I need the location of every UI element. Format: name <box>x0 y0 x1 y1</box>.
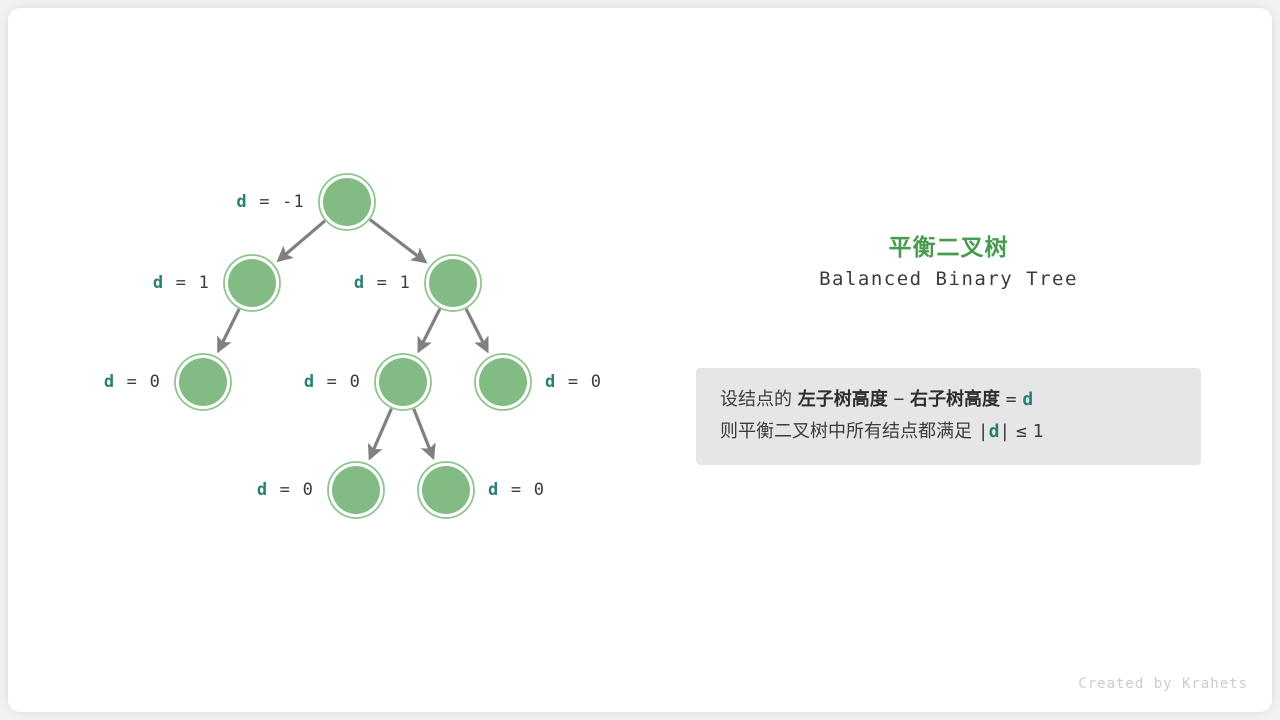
node-label-value: 0 <box>534 480 545 500</box>
tree-node[interactable] <box>425 255 481 311</box>
callout-symbol-d: d <box>1022 389 1033 410</box>
tree-nodes <box>175 174 531 518</box>
node-label-value: 0 <box>591 372 602 392</box>
node-label-value: 1 <box>199 273 210 293</box>
node-label-equals: = <box>499 480 533 500</box>
panel-subtitle: Balanced Binary Tree <box>680 268 1217 290</box>
node-balance-label: d = 1 <box>354 273 411 293</box>
tree-node[interactable] <box>319 174 375 230</box>
tree-node[interactable] <box>328 462 384 518</box>
node-label-equals: = <box>315 372 349 392</box>
node-balance-label: d = 0 <box>304 372 361 392</box>
node-fill <box>479 358 527 406</box>
tree-node[interactable] <box>224 255 280 311</box>
node-label-symbol: d <box>304 372 315 392</box>
abs-bar-close: | <box>999 421 1010 442</box>
node-balance-label: d = 0 <box>104 372 161 392</box>
node-balance-label: d = 0 <box>488 480 545 500</box>
node-fill <box>179 358 227 406</box>
node-balance-label: d = -1 <box>236 192 305 212</box>
callout-term-right: 右子树高度 <box>910 389 1000 410</box>
node-label-equals: = <box>248 192 282 212</box>
tree-edge <box>414 409 433 458</box>
canvas-root: d = -1d = 1d = 1d = 0d = 0d = 0d = 0d = … <box>0 0 1280 720</box>
tree-edge <box>466 309 487 351</box>
callout-bound-value: 1 <box>1033 421 1044 442</box>
node-label-symbol: d <box>354 273 365 293</box>
node-label-symbol: d <box>153 273 164 293</box>
node-label-value: 1 <box>400 273 411 293</box>
tree-node[interactable] <box>475 354 531 410</box>
tree-edge <box>370 220 425 262</box>
footer-credit: Created by Krahets <box>1078 676 1248 692</box>
node-fill <box>332 466 380 514</box>
node-balance-label: d = 0 <box>545 372 602 392</box>
callout-comparator: ≤ <box>1016 421 1027 442</box>
definition-callout: 设结点的 左子树高度 − 右子树高度 = d 则平衡二叉树中所有结点都满足 |d… <box>696 368 1201 465</box>
abs-bar-open: | <box>978 421 989 442</box>
node-label-symbol: d <box>488 480 499 500</box>
panel-title: 平衡二叉树 <box>680 228 1217 262</box>
node-fill <box>323 178 371 226</box>
node-label-symbol: d <box>236 192 247 212</box>
node-label-value: 0 <box>350 372 361 392</box>
tree-edge <box>219 309 240 351</box>
node-label-symbol: d <box>545 372 556 392</box>
callout-symbol-d-abs: d <box>989 421 1000 442</box>
node-balance-label: d = 0 <box>257 480 314 500</box>
tree-edge <box>419 309 440 351</box>
node-label-equals: = <box>115 372 149 392</box>
tree-edge <box>279 221 325 260</box>
tree-svg <box>0 0 680 704</box>
callout-term-left: 左子树高度 <box>798 389 888 410</box>
node-label-equals: = <box>556 372 590 392</box>
callout-prefix-2: 则平衡二叉树中所有结点都满足 <box>720 421 972 442</box>
node-balance-label: d = 1 <box>153 273 210 293</box>
callout-minus: − <box>893 389 904 410</box>
tree-diagram: d = -1d = 1d = 1d = 0d = 0d = 0d = 0d = … <box>0 0 680 704</box>
callout-line-2: 则平衡二叉树中所有结点都满足 |d| ≤ 1 <box>720 416 1177 448</box>
node-label-value: 0 <box>150 372 161 392</box>
node-fill <box>379 358 427 406</box>
node-label-value: -1 <box>282 192 305 212</box>
node-label-equals: = <box>268 480 302 500</box>
tree-node[interactable] <box>375 354 431 410</box>
node-label-equals: = <box>164 273 198 293</box>
info-panel: 平衡二叉树 Balanced Binary Tree 设结点的 左子树高度 − … <box>680 0 1280 704</box>
callout-prefix-1: 设结点的 <box>720 389 792 410</box>
tree-node[interactable] <box>175 354 231 410</box>
tree-edge <box>370 409 391 458</box>
node-fill <box>429 259 477 307</box>
node-label-value: 0 <box>303 480 314 500</box>
node-fill <box>228 259 276 307</box>
node-label-symbol: d <box>257 480 268 500</box>
tree-node[interactable] <box>418 462 474 518</box>
node-label-equals: = <box>365 273 399 293</box>
callout-equals: = <box>1006 389 1017 410</box>
node-fill <box>422 466 470 514</box>
node-label-symbol: d <box>104 372 115 392</box>
callout-line-1: 设结点的 左子树高度 − 右子树高度 = d <box>720 384 1177 416</box>
